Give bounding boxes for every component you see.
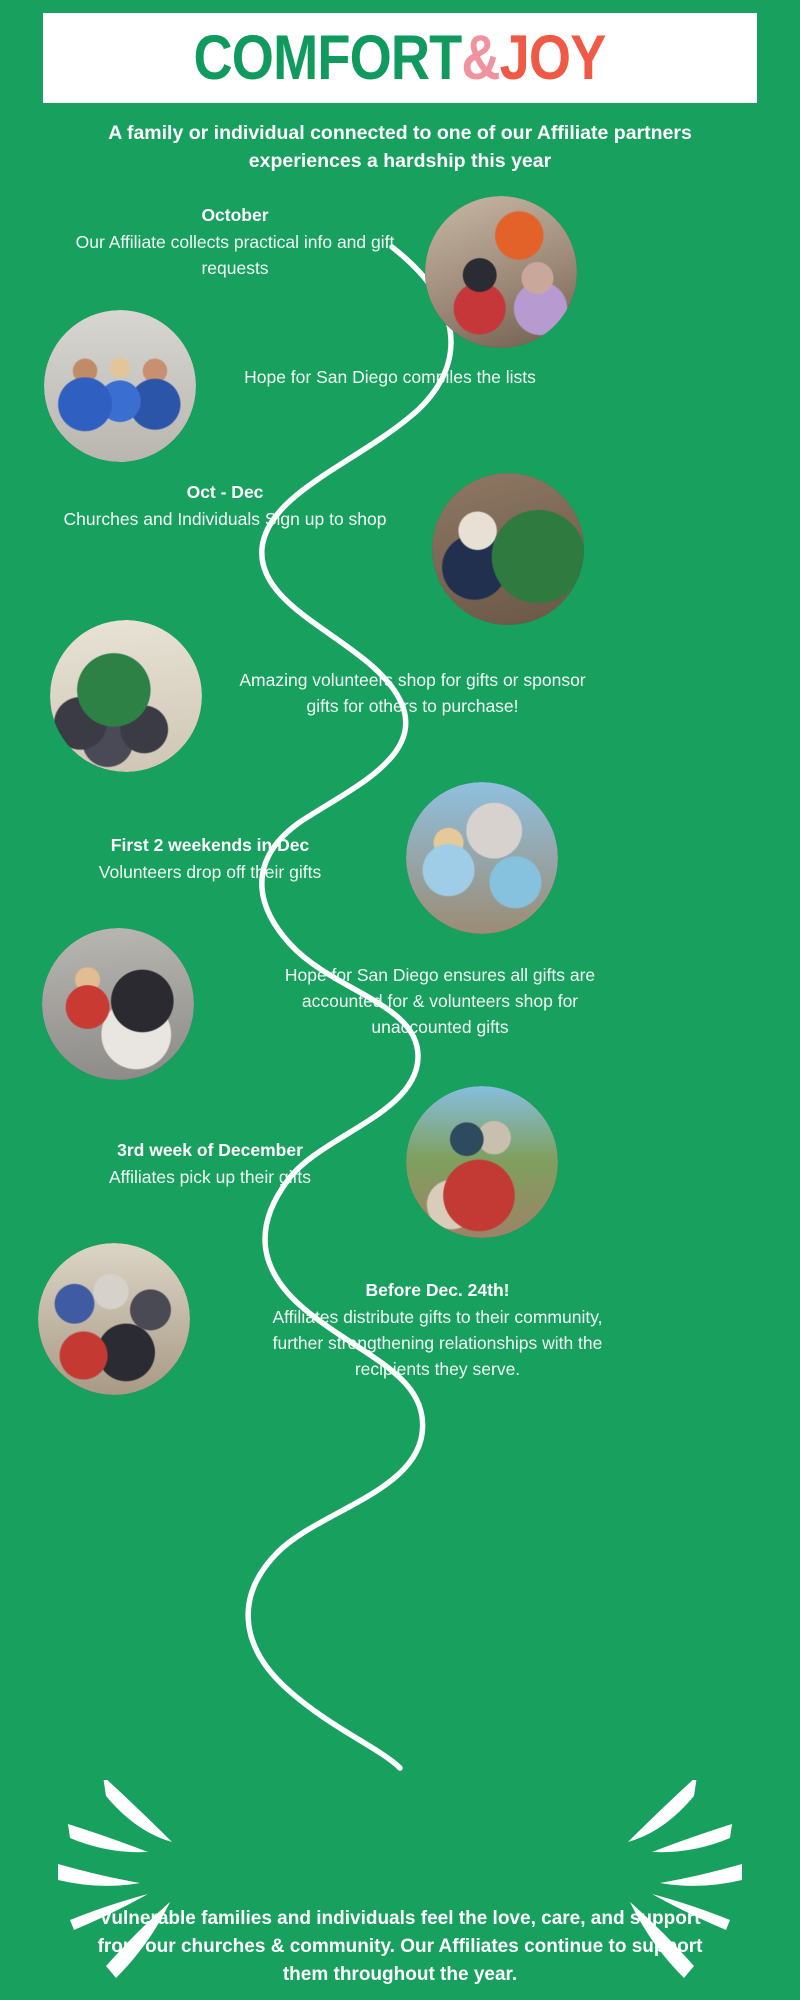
step-6-body: Hope for San Diego ensures all gifts are… <box>280 963 600 1041</box>
step-1-heading: October <box>70 203 400 228</box>
comfort-and-joy-infographic: COMFORT&JOY A family or individual conne… <box>0 0 800 2000</box>
step-5-heading: First 2 weekends in Dec <box>45 833 375 858</box>
subtitle: A family or individual connected to one … <box>60 120 740 175</box>
woman-loading-car-trunk-photo <box>42 928 194 1080</box>
step-8: Before Dec. 24th! Affiliates distribute … <box>265 1278 610 1383</box>
step-photo-1 <box>425 196 577 348</box>
step-4-body: Amazing volunteers shop for gifts or spo… <box>225 668 600 720</box>
community-group-celebration-photo <box>38 1243 190 1395</box>
step-photo-6 <box>42 928 194 1080</box>
volunteer-group-at-tree-photo <box>50 620 202 772</box>
step-4: Amazing volunteers shop for gifts or spo… <box>225 668 600 720</box>
step-photo-5 <box>406 782 558 934</box>
step-8-heading: Before Dec. 24th! <box>265 1278 610 1303</box>
two-women-with-gift-boxes-photo <box>406 1086 558 1238</box>
step-photo-3 <box>432 473 584 625</box>
step-photo-8 <box>38 1243 190 1395</box>
step-2-body: Hope for San Diego compiles the lists <box>225 365 555 391</box>
step-7-body: Affiliates pick up their gifts <box>45 1165 375 1191</box>
step-2: Hope for San Diego compiles the lists <box>225 365 555 391</box>
page-title: COMFORT&JOY <box>194 27 606 90</box>
step-photo-4 <box>50 620 202 772</box>
step-8-body: Affiliates distribute gifts to their com… <box>265 1305 610 1383</box>
step-3-heading: Oct - Dec <box>60 480 390 505</box>
step-photo-7 <box>406 1086 558 1238</box>
step-photo-2 <box>44 310 196 462</box>
step-1: October Our Affiliate collects practical… <box>70 203 400 282</box>
step-5: First 2 weekends in Dec Volunteers drop … <box>45 833 375 886</box>
step-5-body: Volunteers drop off their gifts <box>45 860 375 886</box>
title-plate: COMFORT&JOY <box>43 13 757 103</box>
step-3-body: Churches and Individuals Sign up to shop <box>60 507 390 533</box>
mother-and-children-crafting-photo <box>425 196 577 348</box>
two-girls-with-gift-basket-photo <box>406 782 558 934</box>
title-ampersand: & <box>462 23 500 93</box>
child-at-christmas-tree-photo <box>432 473 584 625</box>
three-hope-volunteers-photo <box>44 310 196 462</box>
step-1-body: Our Affiliate collects practical info an… <box>70 230 400 282</box>
title-word-comfort: COMFORT <box>194 23 462 93</box>
step-6: Hope for San Diego ensures all gifts are… <box>280 963 600 1041</box>
conclusion-text: Vulnerable families and individuals feel… <box>85 1905 715 1989</box>
title-word-joy: JOY <box>500 23 606 93</box>
step-7-heading: 3rd week of December <box>45 1138 375 1163</box>
step-3: Oct - Dec Churches and Individuals Sign … <box>60 480 390 533</box>
step-7: 3rd week of December Affiliates pick up … <box>45 1138 375 1191</box>
